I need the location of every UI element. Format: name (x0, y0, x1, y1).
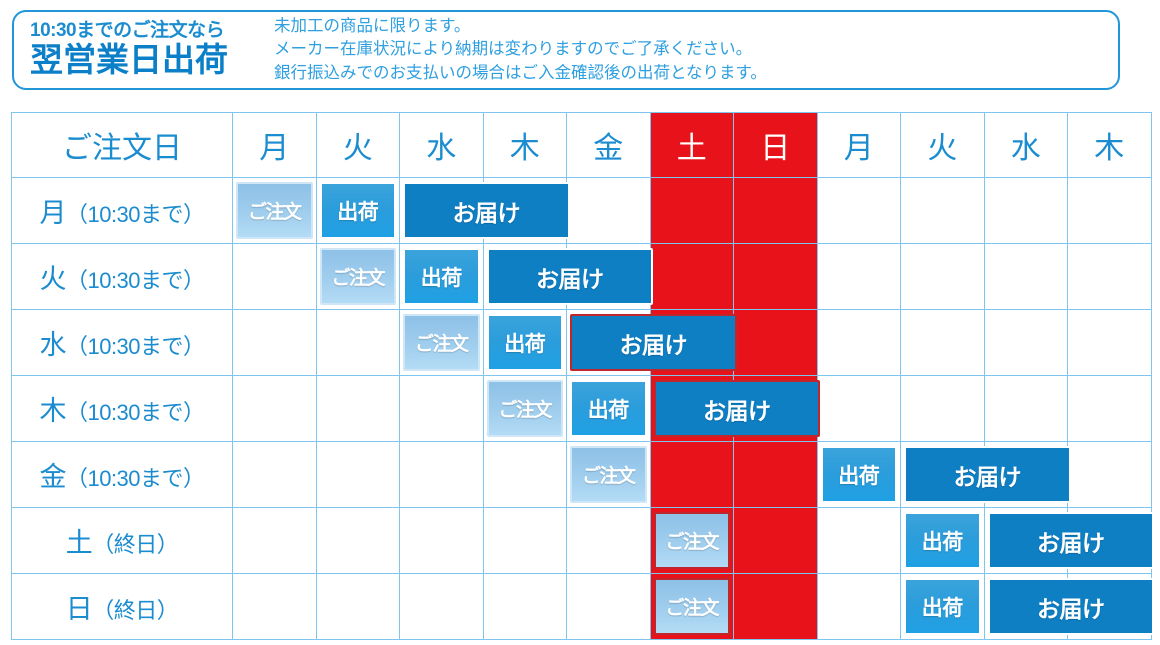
cell-r6-c5: ご注文 (650, 574, 734, 640)
cell-r5-c6 (734, 508, 818, 574)
cell-r1-c5 (650, 244, 734, 310)
deliver-chip: お届け (988, 578, 1155, 635)
cell-r6-c7 (817, 574, 901, 640)
header-day-10: 木 (1068, 113, 1152, 178)
cell-r2-c1 (316, 310, 400, 376)
header-day-1: 火 (316, 113, 400, 178)
cell-r6-c8: 出荷 (901, 574, 985, 640)
deliver-chip: お届け (904, 446, 1071, 503)
row-label-0: 月（10:30まで） (12, 178, 233, 244)
row-label-time: （10:30まで） (66, 400, 205, 425)
row-label-day: 金 (39, 462, 66, 492)
cell-r5-c9: お届け (984, 508, 1068, 574)
header-day-6: 日 (734, 113, 818, 178)
cell-r1-c9 (984, 244, 1068, 310)
row-label-1: 火（10:30まで） (12, 244, 233, 310)
header-day-0: 月 (233, 113, 317, 178)
cell-r6-c3 (483, 574, 567, 640)
deliver-chip: お届け (988, 512, 1155, 569)
cell-r5-c3 (483, 508, 567, 574)
cell-r0-c9 (984, 178, 1068, 244)
row-label-time: （10:30まで） (66, 466, 205, 491)
cell-r4-c10 (1068, 442, 1152, 508)
shipping-schedule-table: ご注文日月火水木金土日月火水木 月（10:30まで）ご注文出荷お届け火（10:3… (11, 112, 1152, 640)
banner-headline-small: 10:30までのご注文なら (30, 21, 262, 41)
header-order-date: ご注文日 (12, 113, 233, 178)
cell-r0-c8 (901, 178, 985, 244)
header-day-3: 木 (483, 113, 567, 178)
order-chip: ご注文 (570, 446, 647, 503)
cell-r0-c6 (734, 178, 818, 244)
banner-notes: 未加工の商品に限ります。 メーカー在庫状況により納期は変わりますのでご了承くださ… (262, 15, 1118, 85)
cell-r0-c5 (650, 178, 734, 244)
cell-r6-c6 (734, 574, 818, 640)
cell-r1-c1: ご注文 (316, 244, 400, 310)
table-row: 木（10:30まで）ご注文出荷お届け (12, 376, 1152, 442)
cell-r2-c3: 出荷 (483, 310, 567, 376)
deliver-chip: お届け (654, 380, 821, 437)
deliver-chip: お届け (403, 182, 570, 239)
cell-r3-c5: お届け (650, 376, 734, 442)
cell-r5-c5: ご注文 (650, 508, 734, 574)
cell-r1-c10 (1068, 244, 1152, 310)
cell-r2-c9 (984, 310, 1068, 376)
cell-r4-c0 (233, 442, 317, 508)
banner-headline-large: 翌営業日出荷 (30, 42, 262, 78)
order-chip: ご注文 (654, 578, 731, 635)
table-row: 水（10:30まで）ご注文出荷お届け (12, 310, 1152, 376)
cell-r1-c2: 出荷 (400, 244, 484, 310)
cell-r2-c10 (1068, 310, 1152, 376)
cell-r1-c6 (734, 244, 818, 310)
cell-r2-c6 (734, 310, 818, 376)
cell-r3-c9 (984, 376, 1068, 442)
cell-r6-c1 (316, 574, 400, 640)
cell-r4-c2 (400, 442, 484, 508)
banner-note-line: 銀行振込みでのお支払いの場合はご入金確認後の出荷となります。 (274, 62, 1118, 85)
table-row: 火（10:30まで）ご注文出荷お届け (12, 244, 1152, 310)
cell-r6-c9: お届け (984, 574, 1068, 640)
cell-r4-c1 (316, 442, 400, 508)
shipping-promise-banner: 10:30までのご注文なら 翌営業日出荷 未加工の商品に限ります。 メーカー在庫… (12, 10, 1120, 90)
cell-r4-c3 (483, 442, 567, 508)
cell-r6-c0 (233, 574, 317, 640)
row-label-time: （10:30まで） (66, 334, 205, 359)
row-label-day: 月 (39, 198, 66, 228)
table-header: ご注文日月火水木金土日月火水木 (12, 113, 1152, 178)
cell-r6-c4 (567, 574, 651, 640)
cell-r3-c4: 出荷 (567, 376, 651, 442)
cell-r3-c0 (233, 376, 317, 442)
cell-r2-c8 (901, 310, 985, 376)
order-chip: ご注文 (403, 314, 480, 371)
header-day-7: 月 (817, 113, 901, 178)
header-day-9: 水 (984, 113, 1068, 178)
cell-r0-c2: お届け (400, 178, 484, 244)
table-header-row: ご注文日月火水木金土日月火水木 (12, 113, 1152, 178)
cell-r3-c1 (316, 376, 400, 442)
order-chip: ご注文 (487, 380, 564, 437)
cell-r5-c2 (400, 508, 484, 574)
row-label-day: 火 (39, 264, 66, 294)
cell-r3-c10 (1068, 376, 1152, 442)
row-label-day: 日 (66, 594, 93, 624)
table-row: 月（10:30まで）ご注文出荷お届け (12, 178, 1152, 244)
cell-r3-c2 (400, 376, 484, 442)
header-day-2: 水 (400, 113, 484, 178)
order-chip: ご注文 (236, 182, 313, 239)
cell-r4-c5 (650, 442, 734, 508)
deliver-chip: お届け (570, 314, 737, 371)
cell-r0-c7 (817, 178, 901, 244)
row-label-3: 木（10:30まで） (12, 376, 233, 442)
cell-r5-c0 (233, 508, 317, 574)
banner-headline-group: 10:30までのご注文なら 翌営業日出荷 (14, 21, 262, 78)
ship-chip: 出荷 (320, 182, 397, 239)
order-chip: ご注文 (320, 248, 397, 305)
table-row: 日（終日）ご注文出荷お届け (12, 574, 1152, 640)
cell-r4-c7: 出荷 (817, 442, 901, 508)
cell-r0-c1: 出荷 (316, 178, 400, 244)
cell-r2-c7 (817, 310, 901, 376)
cell-r2-c0 (233, 310, 317, 376)
cell-r1-c7 (817, 244, 901, 310)
row-label-day: 水 (39, 330, 66, 360)
cell-r2-c2: ご注文 (400, 310, 484, 376)
table-body: 月（10:30まで）ご注文出荷お届け火（10:30まで）ご注文出荷お届け水（10… (12, 178, 1152, 640)
cell-r0-c10 (1068, 178, 1152, 244)
banner-note-line: メーカー在庫状況により納期は変わりますのでご了承ください。 (274, 38, 1118, 61)
ship-chip: 出荷 (821, 446, 898, 503)
order-chip: ご注文 (654, 512, 731, 569)
cell-r0-c0: ご注文 (233, 178, 317, 244)
cell-r4-c6 (734, 442, 818, 508)
cell-r3-c3: ご注文 (483, 376, 567, 442)
ship-chip: 出荷 (904, 512, 981, 569)
header-day-5: 土 (650, 113, 734, 178)
cell-r5-c8: 出荷 (901, 508, 985, 574)
cell-r1-c8 (901, 244, 985, 310)
row-label-time: （10:30まで） (66, 268, 205, 293)
cell-r5-c4 (567, 508, 651, 574)
cell-r5-c7 (817, 508, 901, 574)
cell-r5-c1 (316, 508, 400, 574)
ship-chip: 出荷 (570, 380, 647, 437)
row-label-4: 金（10:30まで） (12, 442, 233, 508)
deliver-chip: お届け (487, 248, 654, 305)
row-label-day: 木 (39, 396, 66, 426)
cell-r1-c0 (233, 244, 317, 310)
cell-r0-c4 (567, 178, 651, 244)
ship-chip: 出荷 (904, 578, 981, 635)
banner-note-line: 未加工の商品に限ります。 (274, 15, 1118, 38)
row-label-2: 水（10:30まで） (12, 310, 233, 376)
header-day-4: 金 (567, 113, 651, 178)
cell-r4-c8: お届け (901, 442, 985, 508)
header-day-8: 火 (901, 113, 985, 178)
row-label-time: （10:30まで） (66, 202, 205, 227)
cell-r2-c4: お届け (567, 310, 651, 376)
table-row: 金（10:30まで）ご注文出荷お届け (12, 442, 1152, 508)
row-label-time: （終日） (92, 532, 178, 557)
row-label-6: 日（終日） (12, 574, 233, 640)
ship-chip: 出荷 (487, 314, 564, 371)
cell-r6-c2 (400, 574, 484, 640)
cell-r3-c8 (901, 376, 985, 442)
cell-r4-c4: ご注文 (567, 442, 651, 508)
table-row: 土（終日）ご注文出荷お届け (12, 508, 1152, 574)
row-label-day: 土 (66, 528, 93, 558)
row-label-5: 土（終日） (12, 508, 233, 574)
row-label-time: （終日） (92, 598, 178, 623)
cell-r1-c3: お届け (483, 244, 567, 310)
ship-chip: 出荷 (403, 248, 480, 305)
cell-r3-c7 (817, 376, 901, 442)
